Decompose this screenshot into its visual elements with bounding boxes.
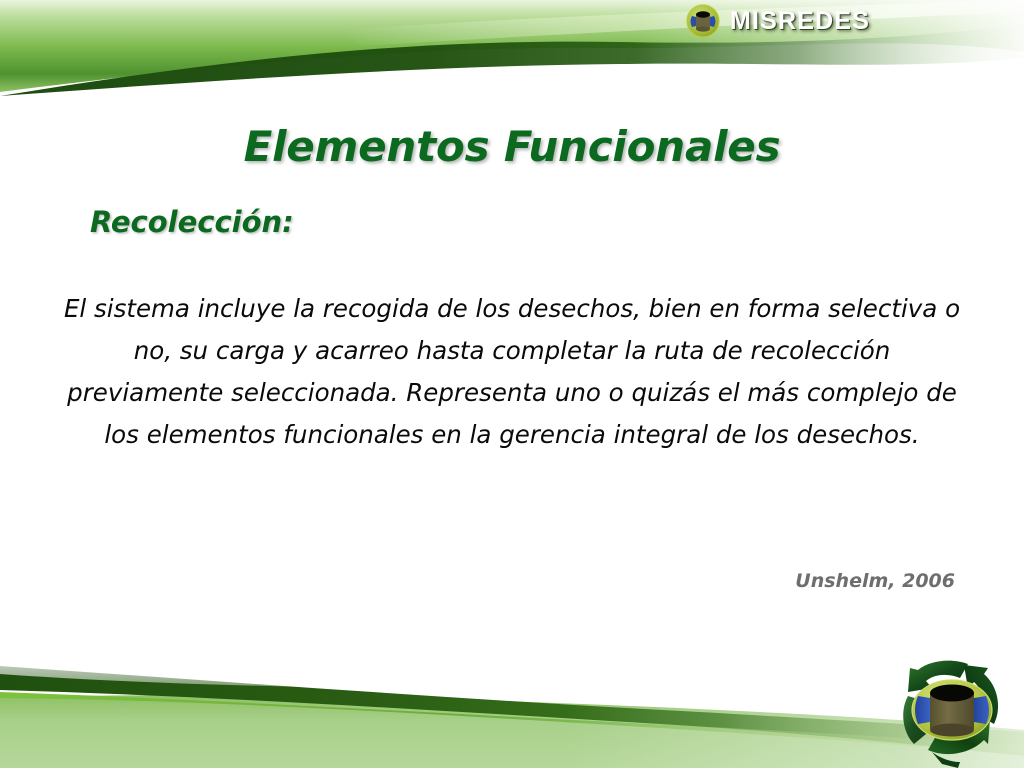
presentation-slide: MISREDES Elementos Funcionales Recolecci… bbox=[0, 0, 1024, 768]
citation-source: Unshelm, 2006 bbox=[0, 570, 955, 592]
body-paragraph: El sistema incluye la recogida de los de… bbox=[62, 288, 962, 456]
recycling-arrows-with-waste-bin-icon bbox=[888, 652, 1016, 768]
brand-name: MISREDES bbox=[730, 4, 870, 38]
green-wave-banner-bottom-icon bbox=[0, 638, 1024, 768]
bottom-wave-banner bbox=[0, 638, 1024, 768]
waste-bin-circle-logo-icon bbox=[686, 4, 720, 38]
section-heading: Recolección: bbox=[90, 205, 294, 239]
brand-logo: MISREDES bbox=[686, 2, 916, 40]
slide-title: Elementos Funcionales bbox=[0, 122, 1024, 171]
